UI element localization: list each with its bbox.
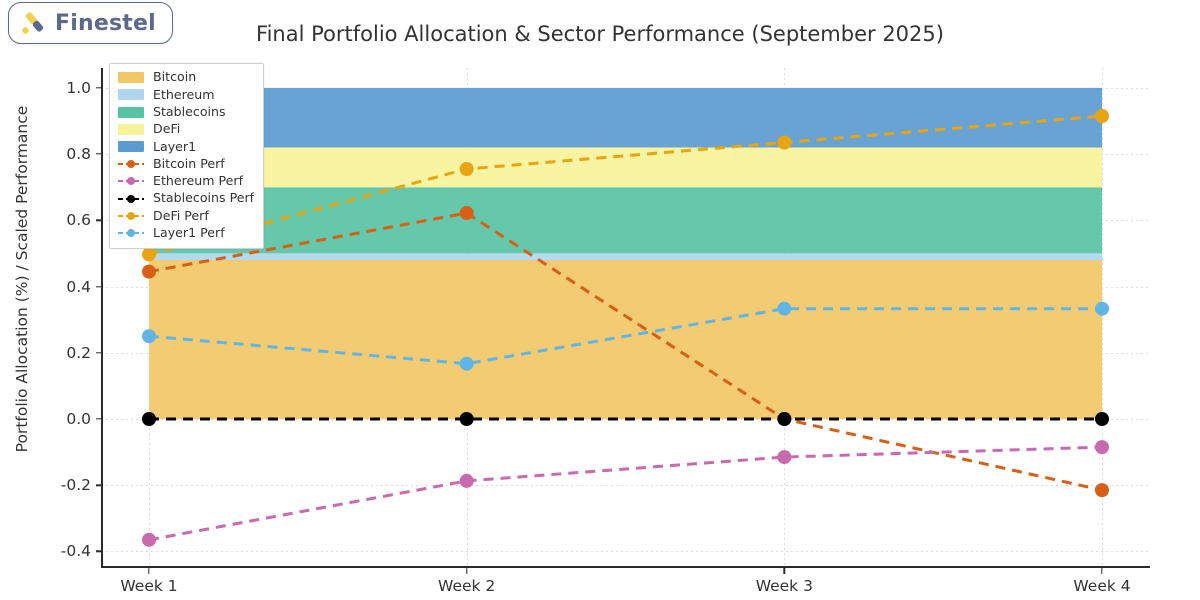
y-tick-mark: [96, 286, 102, 287]
legend-line-marker: [118, 159, 144, 170]
legend-label: Layer1: [153, 141, 196, 154]
legend-line-marker: [118, 211, 144, 222]
area-stablecoins: [149, 187, 1102, 253]
legend-item[interactable]: DeFi: [118, 121, 254, 138]
y-tick-label: 0.2: [66, 344, 91, 362]
area-bitcoin: [149, 260, 1102, 419]
y-axis-spine: [101, 68, 103, 568]
marker-layer1-perf: [460, 357, 474, 371]
marker-stablecoins-perf: [1095, 412, 1109, 426]
x-tick-mark: [784, 568, 785, 574]
marker-bitcoin-perf: [460, 206, 474, 220]
chart-title: Final Portfolio Allocation & Sector Perf…: [0, 22, 1200, 46]
marker-stablecoins-perf: [142, 412, 156, 426]
y-tick-label: 0.4: [66, 278, 91, 296]
marker-defi-perf: [777, 136, 791, 150]
y-tick-mark: [96, 220, 102, 221]
legend-label: Bitcoin Perf: [153, 158, 225, 171]
x-tick-mark: [148, 568, 149, 574]
y-tick-mark: [96, 551, 102, 552]
y-axis-label: Portfolio Allocation (%) / Scaled Perfor…: [13, 44, 31, 514]
legend-label: Ethereum Perf: [153, 175, 243, 188]
finestel-pencil-icon: [21, 10, 47, 36]
legend-item[interactable]: Bitcoin Perf: [118, 155, 254, 172]
marker-ethereum-perf: [777, 450, 791, 464]
legend-item[interactable]: Stablecoins Perf: [118, 190, 254, 207]
legend-line-marker: [118, 228, 144, 239]
legend-swatch: [118, 141, 144, 152]
legend-swatch: [118, 72, 144, 83]
y-tick-label: 0.8: [66, 145, 91, 163]
legend-swatch: [118, 124, 144, 135]
legend-label: Stablecoins: [153, 106, 226, 119]
x-tick-mark: [1101, 568, 1102, 574]
y-tick-mark: [96, 352, 102, 353]
x-tick-mark: [466, 568, 467, 574]
legend-item[interactable]: Bitcoin: [118, 69, 254, 86]
x-tick-label: Week 2: [438, 577, 495, 595]
y-tick-mark: [96, 418, 102, 419]
marker-layer1-perf: [777, 302, 791, 316]
plot-area: 1.00.80.60.40.20.0-0.2-0.4 Week 1Week 2W…: [101, 68, 1150, 568]
marker-defi-perf: [1095, 109, 1109, 123]
legend-item[interactable]: Ethereum Perf: [118, 173, 254, 190]
x-axis-spine: [101, 566, 1150, 568]
legend-item[interactable]: Ethereum: [118, 86, 254, 103]
y-tick-mark: [96, 153, 102, 154]
x-tick-label: Week 3: [756, 577, 813, 595]
legend-label: DeFi: [153, 123, 180, 136]
legend-line-marker: [118, 176, 144, 187]
legend-swatch: [118, 107, 144, 118]
legend-item[interactable]: Stablecoins: [118, 104, 254, 121]
marker-defi-perf: [142, 247, 156, 261]
legend-item[interactable]: Layer1: [118, 138, 254, 155]
legend-line-marker: [118, 193, 144, 204]
legend-item[interactable]: Layer1 Perf: [118, 225, 254, 242]
chart-page: Finestel Final Portfolio Allocation & Se…: [0, 0, 1200, 600]
marker-stablecoins-perf: [460, 412, 474, 426]
line-ethereum-perf: [149, 447, 1102, 540]
y-tick-mark: [96, 485, 102, 486]
legend-label: Stablecoins Perf: [153, 192, 254, 205]
legend-item[interactable]: DeFi Perf: [118, 207, 254, 224]
chart-legend[interactable]: BitcoinEthereumStablecoinsDeFiLayer1Bitc…: [109, 63, 264, 249]
y-tick-mark: [96, 87, 102, 88]
marker-ethereum-perf: [1095, 440, 1109, 454]
y-tick-label: 1.0: [66, 79, 91, 97]
y-tick-label: 0.0: [66, 410, 91, 428]
legend-swatch: [118, 89, 144, 100]
y-tick-label: 0.6: [66, 211, 91, 229]
marker-ethereum-perf: [460, 474, 474, 488]
marker-ethereum-perf: [142, 533, 156, 547]
finestel-logo-badge[interactable]: Finestel: [8, 2, 173, 44]
area-layer1: [149, 88, 1102, 148]
marker-defi-perf: [460, 162, 474, 176]
legend-label: Layer1 Perf: [153, 227, 225, 240]
marker-layer1-perf: [1095, 302, 1109, 316]
x-tick-label: Week 1: [120, 577, 177, 595]
x-tick-label: Week 4: [1073, 577, 1130, 595]
legend-label: Ethereum: [153, 89, 215, 102]
y-tick-label: -0.2: [61, 476, 91, 494]
marker-layer1-perf: [142, 329, 156, 343]
marker-bitcoin-perf: [1095, 483, 1109, 497]
y-tick-label: -0.4: [61, 542, 91, 560]
marker-bitcoin-perf: [142, 265, 156, 279]
brand-name: Finestel: [55, 11, 156, 36]
area-defi: [149, 147, 1102, 187]
legend-label: Bitcoin: [153, 71, 196, 84]
marker-stablecoins-perf: [777, 412, 791, 426]
area-ethereum: [149, 253, 1102, 260]
legend-label: DeFi Perf: [153, 210, 209, 223]
